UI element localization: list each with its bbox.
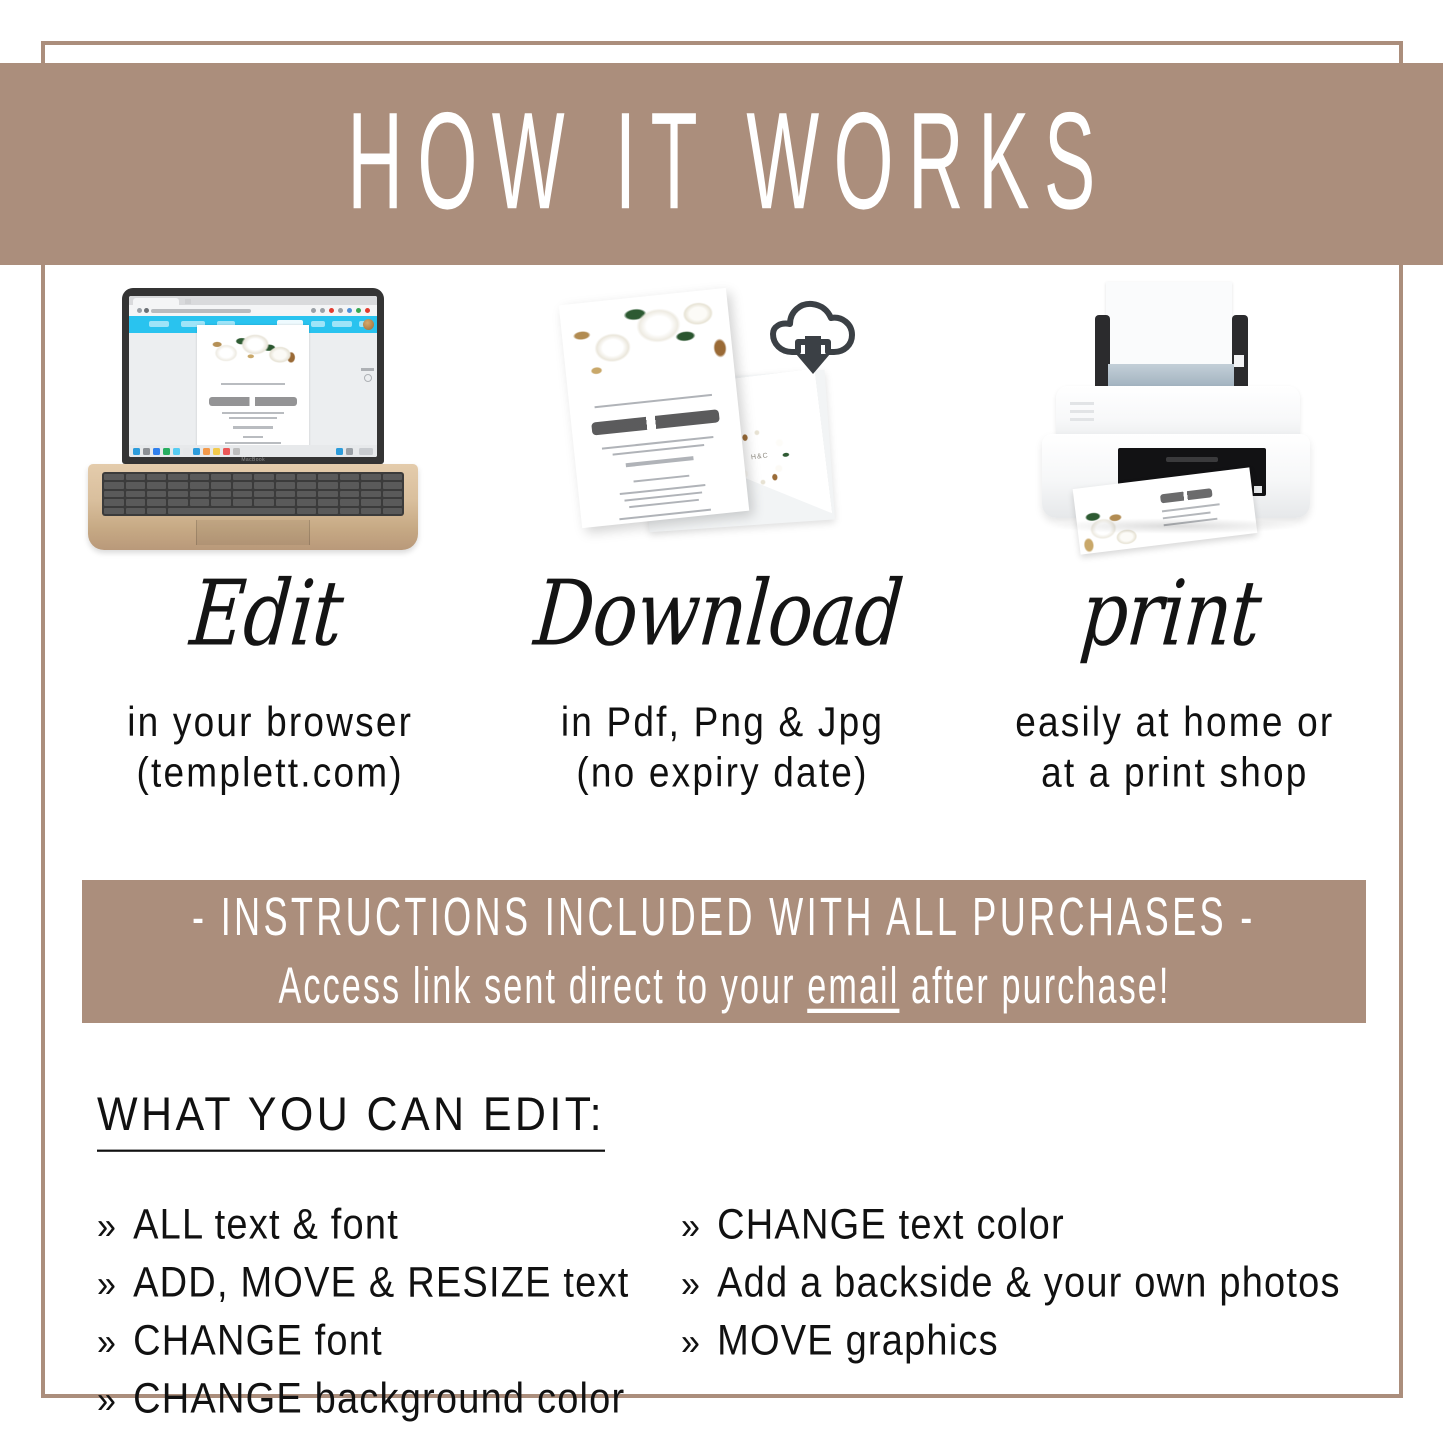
laptop-brand-label: MacBook <box>241 457 265 463</box>
instructions-subline-before: Access link sent direct to your <box>278 956 807 1014</box>
step-download: H&C <box>496 280 948 810</box>
keyboard-row <box>104 499 402 505</box>
list-item-label: CHANGE background color <box>133 1378 625 1421</box>
floral-graphic <box>197 325 309 379</box>
invitation-line-2 <box>222 412 284 414</box>
page-title: HOW IT WORKS <box>333 83 1110 241</box>
browser-tab-bar <box>129 296 377 305</box>
taskbar-icon-8 <box>203 448 210 455</box>
app-menu-file[interactable] <box>149 321 169 327</box>
taskbar-icon-9 <box>213 448 220 455</box>
step-edit: MacBook <box>44 280 496 810</box>
laptop-trackpad <box>196 520 310 545</box>
browser-toolbar-icon-2 <box>320 308 325 313</box>
invitation-preview[interactable] <box>197 325 309 453</box>
step-print: print easily at home or at a print shop <box>949 280 1401 810</box>
chevron-double-right-icon: » <box>681 1207 701 1245</box>
printer-slot-bar <box>1166 457 1218 462</box>
taskbar-icon-3 <box>153 448 160 455</box>
cloud-download-icon <box>766 298 860 391</box>
step-caption-download: in Pdf, Png & Jpg (no expiry date) <box>561 697 884 798</box>
printer <box>1010 282 1340 557</box>
edit-bullets-left-column: » ALL text & font » ADD, MOVE & RESIZE t… <box>97 1204 681 1436</box>
browser-toolbar-icon-4 <box>338 308 343 313</box>
side-panel-label <box>361 368 374 371</box>
step-caption-print: easily at home or at a print shop <box>1015 697 1334 798</box>
browser-lock-icon <box>144 308 149 313</box>
card-floral-graphic <box>559 288 745 396</box>
laptop-keyboard <box>102 472 404 516</box>
editor-side-panel[interactable] <box>361 368 374 382</box>
edit-bullets-right-column: » CHANGE text color » Add a backside & y… <box>681 1204 1387 1436</box>
list-item: » CHANGE background color <box>97 1378 681 1421</box>
laptop-base <box>88 464 418 550</box>
instructions-subline: Access link sent direct to your email af… <box>278 956 1170 1016</box>
list-item: » Add a backside & your own photos <box>681 1262 1387 1305</box>
browser-toolbar-icon-6 <box>356 308 361 313</box>
instructions-banner: - INSTRUCTIONS INCLUDED WITH ALL PURCHAS… <box>82 880 1366 1023</box>
card-couple-names <box>592 409 721 435</box>
chevron-double-right-icon: » <box>97 1323 117 1361</box>
invitation-line-1 <box>221 383 285 385</box>
invitation-line-5 <box>225 442 281 444</box>
browser-url-bar[interactable] <box>129 305 377 316</box>
taskbar-icon-10 <box>223 448 230 455</box>
list-item-label: MOVE graphics <box>717 1320 999 1363</box>
list-item: » MOVE graphics <box>681 1320 1387 1363</box>
card-line-6 <box>630 499 700 508</box>
taskbar-tray-icon-1 <box>336 448 343 455</box>
taskbar-icon-4 <box>163 448 170 455</box>
chevron-double-right-icon: » <box>97 1207 117 1245</box>
printer-illustration <box>949 280 1401 555</box>
taskbar-clock <box>359 448 373 455</box>
card-date <box>626 456 694 467</box>
steps-row: MacBook <box>44 280 1401 810</box>
chevron-double-right-icon: » <box>97 1265 117 1303</box>
list-item-label: CHANGE font <box>133 1320 383 1363</box>
invitation-date <box>233 426 273 429</box>
taskbar-icon-2 <box>143 448 150 455</box>
taskbar-icon-5 <box>173 448 180 455</box>
browser-toolbar-icon-5 <box>347 308 352 313</box>
list-item: » ADD, MOVE & RESIZE text <box>97 1262 681 1305</box>
list-item: » ALL text & font <box>97 1204 681 1247</box>
browser-toolbar-icon-3 <box>329 308 334 313</box>
printer-tray-right <box>1232 315 1248 389</box>
chevron-double-right-icon: » <box>681 1323 701 1361</box>
printer-tray-guide <box>1234 355 1244 367</box>
keyboard-row <box>104 491 402 497</box>
keyboard-row <box>104 508 402 514</box>
browser-url-text <box>151 309 251 313</box>
taskbar-icon-11 <box>233 448 240 455</box>
instructions-subline-after: after purchase! <box>899 956 1170 1014</box>
caption-line-2: at a print shop <box>1015 748 1334 799</box>
browser-extension-icon <box>137 308 142 313</box>
card-line-3 <box>634 475 690 483</box>
user-avatar[interactable] <box>363 319 374 330</box>
laptop-illustration: MacBook <box>44 280 496 555</box>
caption-line-1: in Pdf, Png & Jpg <box>561 699 884 745</box>
header-banner: HOW IT WORKS <box>0 63 1443 265</box>
monogram-text: H&C <box>751 452 770 461</box>
keyboard-row <box>104 482 402 488</box>
browser-toolbar-icon-1 <box>311 308 316 313</box>
chevron-double-right-icon: » <box>97 1381 117 1419</box>
taskbar-icon-1 <box>133 448 140 455</box>
list-item-label: ADD, MOVE & RESIZE text <box>133 1262 629 1305</box>
printer-control-buttons[interactable] <box>1070 402 1094 424</box>
laptop-lid: MacBook <box>122 288 384 464</box>
card-line-intro <box>595 394 713 408</box>
email-link[interactable]: email <box>807 956 899 1014</box>
list-item-label: Add a backside & your own photos <box>717 1262 1341 1305</box>
list-item: » CHANGE font <box>97 1320 681 1363</box>
keyboard-row <box>104 474 402 480</box>
taskbar-icon-7 <box>193 448 200 455</box>
color-swatch-icon[interactable] <box>364 374 372 382</box>
caption-line-2: (no expiry date) <box>561 748 884 799</box>
step-caption-edit: in your browser (templett.com) <box>127 697 413 798</box>
caption-line-1: in your browser <box>127 699 413 745</box>
list-item: » CHANGE text color <box>681 1204 1387 1247</box>
printed-line-1 <box>1162 503 1220 512</box>
list-item-label: CHANGE text color <box>717 1204 1065 1247</box>
instructions-headline: - INSTRUCTIONS INCLUDED WITH ALL PURCHAS… <box>192 887 1256 948</box>
printed-couple-names <box>1160 488 1213 503</box>
chevron-double-right-icon: » <box>681 1265 701 1303</box>
printer-shadow <box>1050 518 1300 534</box>
invitation-line-3 <box>229 417 277 419</box>
step-script-label-edit: Edit <box>184 569 345 691</box>
step-script-label-print: print <box>1075 569 1264 691</box>
caption-line-2: (templett.com) <box>127 748 413 799</box>
invitation-card <box>559 288 749 528</box>
download-illustration: H&C <box>496 280 948 555</box>
app-share-button[interactable] <box>332 321 352 327</box>
browser-tab[interactable] <box>133 298 179 305</box>
list-item-label: ALL text & font <box>133 1204 399 1247</box>
os-taskbar <box>129 445 377 457</box>
what-you-can-edit-section: WHAT YOU CAN EDIT: » ALL text & font » A… <box>97 1088 1387 1436</box>
invitation-line-4 <box>243 436 263 438</box>
laptop: MacBook <box>122 288 418 550</box>
card-line-1 <box>602 436 714 450</box>
app-save-button[interactable] <box>311 321 325 327</box>
taskbar-icon-6 <box>183 448 190 455</box>
card-and-envelope: H&C <box>552 280 892 555</box>
taskbar-tray-icon-2 <box>346 448 353 455</box>
invitation-couple-names <box>209 397 297 406</box>
edit-section-title: WHAT YOU CAN EDIT: <box>97 1088 605 1152</box>
step-script-label-download: Download <box>529 569 906 691</box>
browser-new-tab-icon[interactable] <box>185 299 191 304</box>
edit-bullets: » ALL text & font » ADD, MOVE & RESIZE t… <box>97 1204 1387 1436</box>
browser-toolbar-icon-7 <box>365 308 370 313</box>
laptop-screen <box>129 296 377 457</box>
caption-line-1: easily at home or <box>1015 699 1334 745</box>
